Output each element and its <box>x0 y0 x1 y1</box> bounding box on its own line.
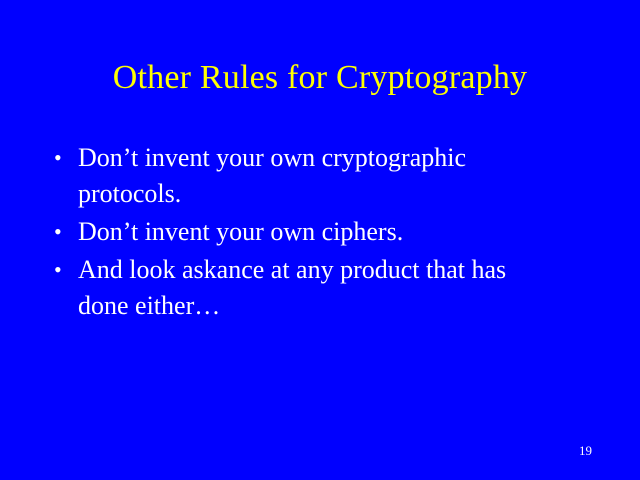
bullet-list-item: • And look askance at any product that h… <box>50 252 590 324</box>
presentation-slide: Other Rules for Cryptography • Don’t inv… <box>0 0 640 480</box>
slide-body-content: • Don’t invent your own cryptographic pr… <box>50 140 590 326</box>
bullet-item-text: Don’t invent your own cryptographic prot… <box>78 140 590 212</box>
bullet-item-text: Don’t invent your own ciphers. <box>78 214 590 250</box>
bullet-point-icon: • <box>50 252 78 288</box>
bullet-point-icon: • <box>50 214 78 250</box>
bullet-item-text: And look askance at any product that has… <box>78 252 590 324</box>
bullet-list-item: • Don’t invent your own cryptographic pr… <box>50 140 590 212</box>
bullet-list-item: • Don’t invent your own ciphers. <box>50 214 590 250</box>
slide-number: 19 <box>579 444 592 458</box>
bullet-point-icon: • <box>50 140 78 176</box>
slide-title: Other Rules for Cryptography <box>40 58 600 98</box>
